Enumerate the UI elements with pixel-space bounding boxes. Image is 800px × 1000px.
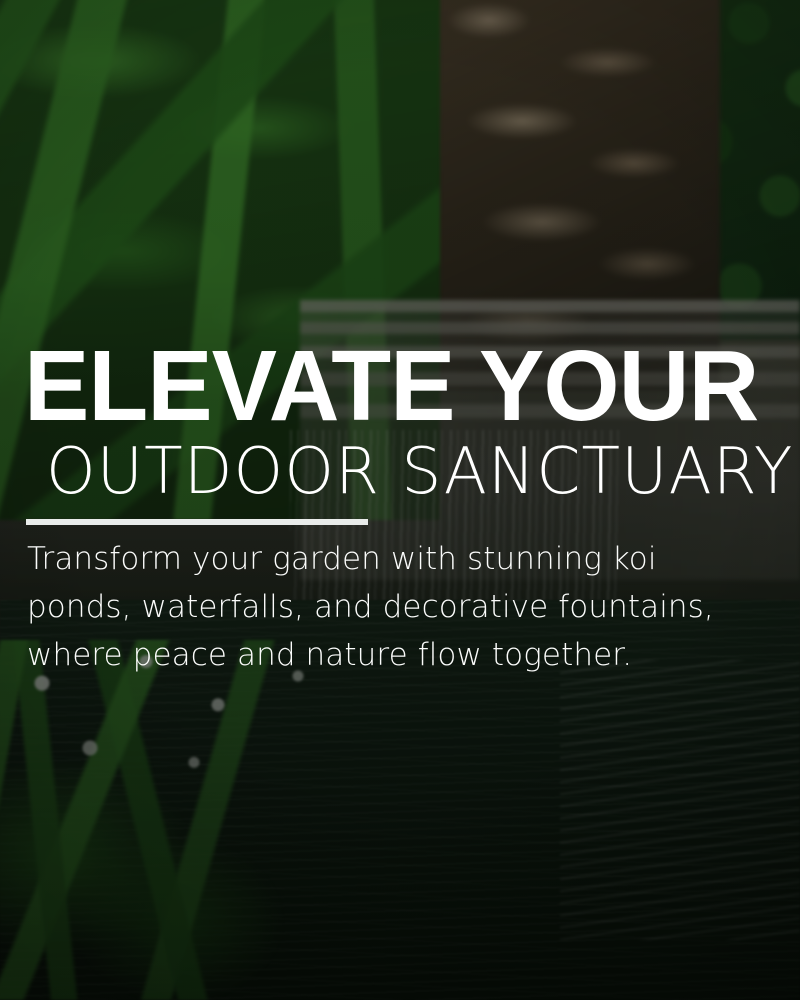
headline-primary: ELEVATE YOUR [24, 336, 758, 436]
body-copy-line-3: where peace and nature flow together. [27, 631, 747, 679]
body-copy-line-1: Transform your garden with stunning koi [27, 535, 747, 583]
text-content-block: ELEVATE YOUR OUTDOOR SANCTUARY Transform… [0, 0, 800, 1000]
divider-rule [26, 519, 368, 525]
body-copy-line-2: ponds, waterfalls, and decorative founta… [27, 583, 747, 631]
body-copy: Transform your garden with stunning koi … [27, 535, 747, 679]
promotional-poster: ELEVATE YOUR OUTDOOR SANCTUARY Transform… [0, 0, 800, 1000]
headline-secondary: OUTDOOR SANCTUARY [46, 440, 794, 504]
